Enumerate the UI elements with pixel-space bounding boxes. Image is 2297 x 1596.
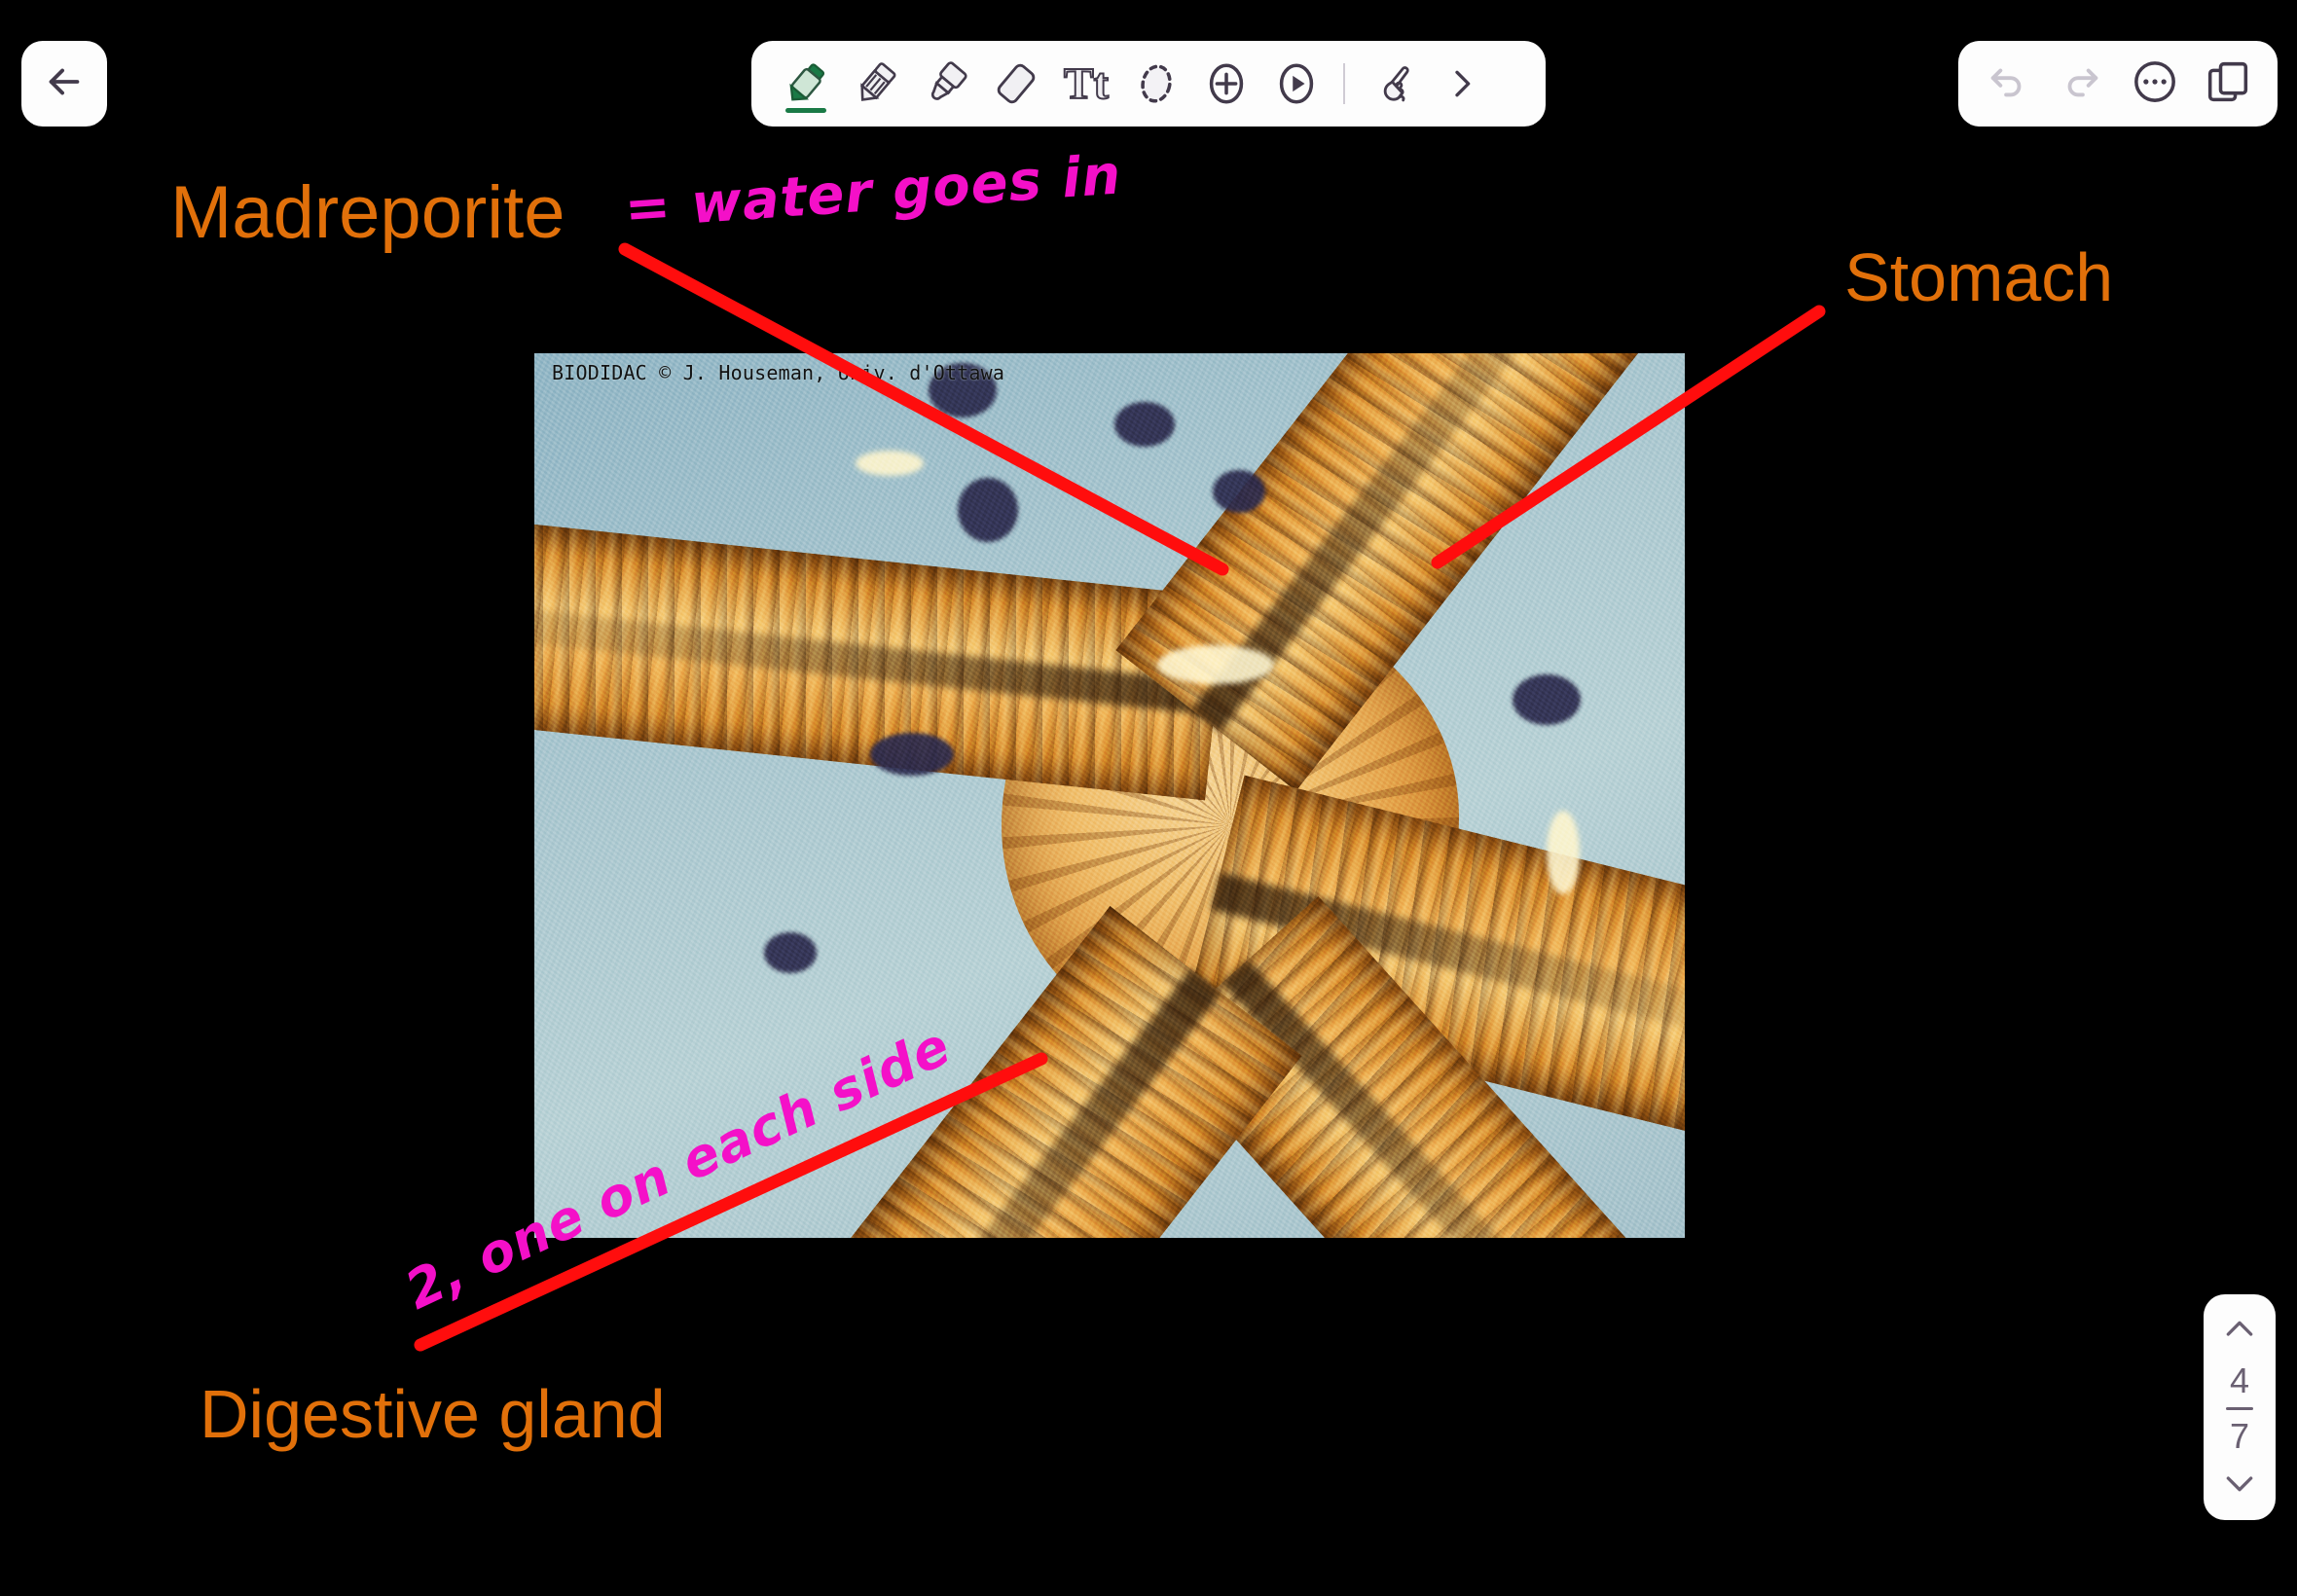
photo-dark-spot	[764, 932, 817, 973]
notebook-canvas-screen: BIODIDAC © J. Houseman, Univ. d'Ottawa M…	[0, 0, 2297, 1596]
annotation-label-madreporite[interactable]: Madreporite	[170, 176, 565, 250]
chevron-right-icon	[1442, 64, 1481, 103]
note-page-canvas[interactable]: BIODIDAC © J. Houseman, Univ. d'Ottawa M…	[0, 0, 2297, 1596]
chevron-down-icon	[2220, 1464, 2259, 1507]
tool-eraser[interactable]	[981, 41, 1051, 127]
undo-icon	[1986, 59, 2030, 109]
lasso-select-icon	[1132, 59, 1181, 108]
tool-pencil[interactable]	[841, 41, 911, 127]
play-circle-icon	[1272, 59, 1321, 108]
photo-watermark: BIODIDAC © J. Houseman, Univ. d'Ottawa	[552, 361, 1004, 384]
page-navigator[interactable]: 4 7	[2204, 1294, 2276, 1520]
photo-bitmap: BIODIDAC © J. Houseman, Univ. d'Ottawa	[534, 353, 1685, 1238]
photo-highlight	[1547, 811, 1580, 894]
arrow-left-icon	[42, 59, 87, 109]
annotation-label-stomach[interactable]: Stomach	[1844, 243, 2113, 311]
handwritten-note-water-goes-in[interactable]: = water goes in	[623, 148, 1123, 237]
eraser-icon	[992, 59, 1040, 108]
pages-icon	[2204, 57, 2252, 111]
plus-circle-icon	[1202, 59, 1251, 108]
text-tool-glyph: Tt	[1064, 58, 1109, 108]
photo-dark-spot	[1513, 674, 1581, 725]
tool-lasso-select[interactable]	[1121, 41, 1191, 127]
tool-pen[interactable]	[771, 41, 841, 127]
drawing-toolbar[interactable]: Tt	[751, 41, 1546, 127]
page-next-button[interactable]	[2212, 1466, 2267, 1505]
current-page-number: 4	[2230, 1362, 2249, 1399]
more-circle-icon	[2131, 57, 2179, 111]
more-options-button[interactable]	[2123, 41, 2187, 127]
page-indicator: 4 7	[2226, 1362, 2253, 1455]
redo-button[interactable]	[2049, 41, 2113, 127]
toolbar-divider	[1343, 63, 1345, 104]
photo-dark-spot	[870, 733, 954, 776]
tool-insert[interactable]	[1191, 41, 1261, 127]
action-toolbar[interactable]	[1958, 41, 2278, 127]
annotation-label-digestive-gland[interactable]: Digestive gland	[200, 1380, 666, 1448]
tool-highlighter[interactable]	[911, 41, 981, 127]
photo-highlight	[856, 451, 924, 476]
tool-text[interactable]: Tt	[1051, 41, 1121, 127]
photo-dark-spot	[1114, 402, 1175, 447]
sea-star-dissection-photo[interactable]: BIODIDAC © J. Houseman, Univ. d'Ottawa	[534, 353, 1685, 1238]
total-page-count: 7	[2230, 1418, 2249, 1455]
pencil-icon	[852, 59, 900, 108]
page-previous-button[interactable]	[2212, 1312, 2267, 1351]
tool-more[interactable]	[1427, 41, 1497, 127]
undo-button[interactable]	[1976, 41, 2040, 127]
highlighter-icon	[922, 59, 970, 108]
text-tool-icon: Tt	[1064, 61, 1109, 106]
hand-pointer-icon	[1367, 59, 1416, 108]
redo-icon	[2059, 59, 2103, 109]
photo-highlight	[1157, 645, 1274, 684]
tool-hand[interactable]	[1357, 41, 1427, 127]
photo-madreporite-spot	[958, 478, 1018, 542]
back-button[interactable]	[21, 41, 107, 127]
pen-icon	[782, 59, 830, 108]
chevron-up-icon	[2220, 1310, 2259, 1354]
pages-button[interactable]	[2196, 41, 2260, 127]
tool-media[interactable]	[1261, 41, 1331, 127]
photo-dark-spot	[1213, 470, 1265, 513]
page-separator	[2226, 1407, 2253, 1410]
